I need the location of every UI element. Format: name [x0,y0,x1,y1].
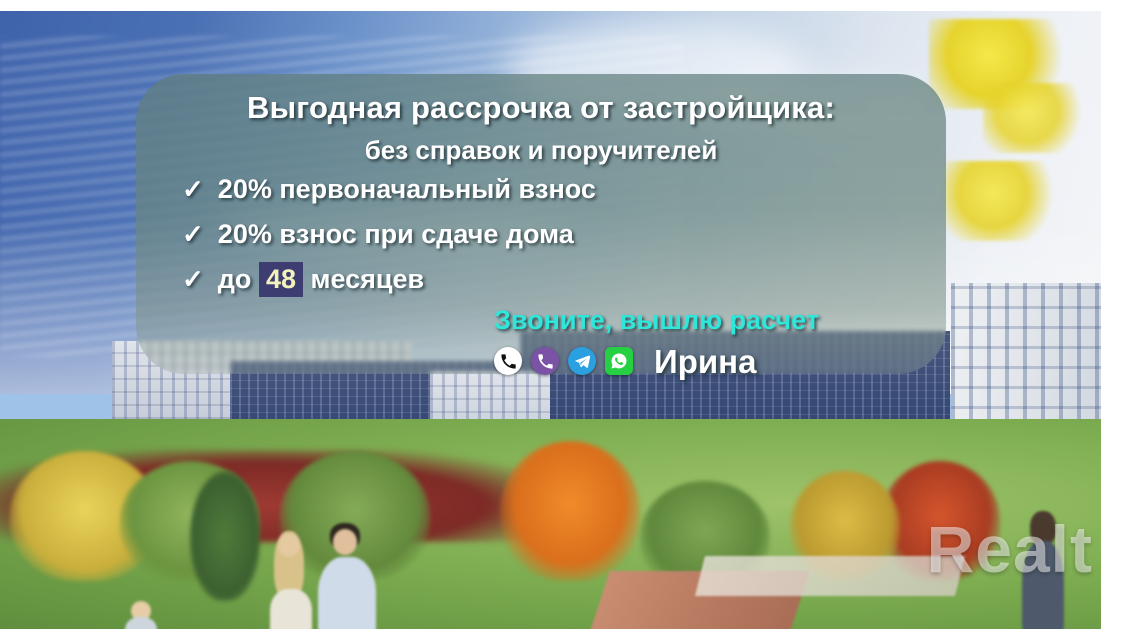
benefit-text-before: 20% первоначальный взнос [218,174,596,204]
viber-icon[interactable] [531,347,559,375]
person-distant [1020,511,1066,629]
benefit-text-after: месяцев [303,264,424,294]
benefit-text-before: 20% взнос при сдаче дома [218,219,574,249]
benefit-text: 20% первоначальный взнос [218,176,596,203]
benefit-text: 20% взнос при сдаче дома [218,221,574,248]
benefit-text: до 48 месяцев [218,266,424,293]
benefit-text-before: до [218,264,259,294]
paved-plaza [695,556,965,596]
autumn-leaves [945,161,1065,241]
benefits-list: ✓20% первоначальный взнос✓20% взнос при … [182,176,916,293]
headline: Выгодная рассрочка от застройщика: [166,90,916,126]
contact-icons-row: Ирина [494,345,914,378]
check-icon: ✓ [182,266,204,292]
phone-icon[interactable] [494,347,522,375]
benefit-item: ✓20% первоначальный взнос [182,176,916,203]
tree-conifer [190,471,260,601]
tree-orange [500,441,640,581]
person-woman [268,531,314,629]
advertisement-banner: Выгодная рассрочка от застройщика: без с… [0,0,1121,634]
call-to-action-block: Звоните, вышлю расчет [494,306,914,378]
cta-text: Звоните, вышлю расчет [494,306,914,336]
benefit-item: ✓20% взнос при сдаче дома [182,221,916,248]
benefit-item: ✓до 48 месяцев [182,266,916,293]
person-child [125,601,157,629]
check-icon: ✓ [182,176,204,202]
contact-name: Ирина [654,345,756,378]
person-man [318,523,376,629]
benefit-highlight-value: 48 [259,262,303,297]
telegram-icon[interactable] [568,347,596,375]
subheadline: без справок и поручителей [166,135,916,166]
whatsapp-icon[interactable] [605,347,633,375]
autumn-leaves [983,83,1093,153]
check-icon: ✓ [182,221,204,247]
